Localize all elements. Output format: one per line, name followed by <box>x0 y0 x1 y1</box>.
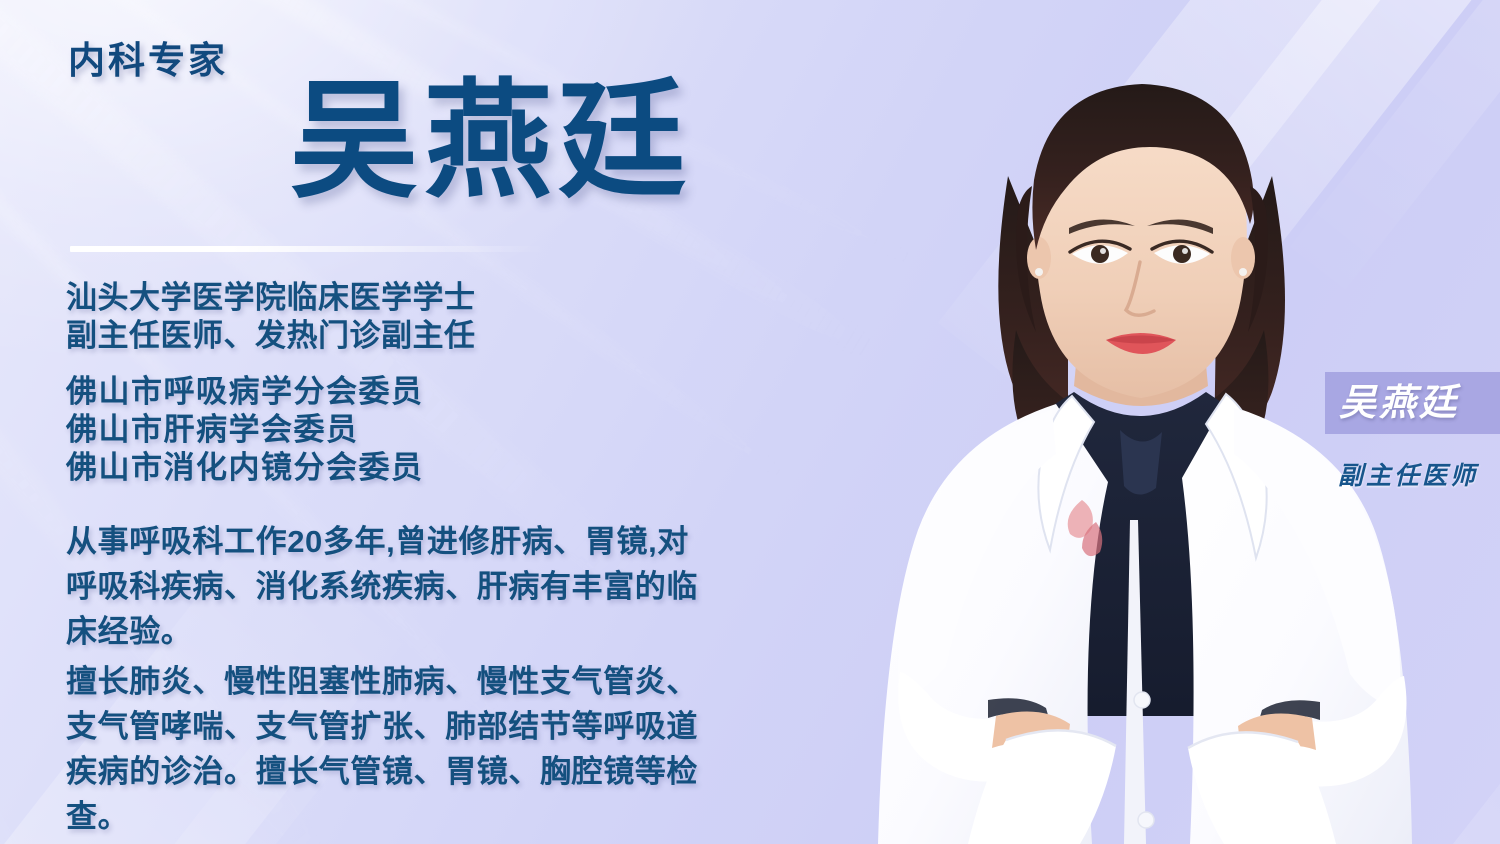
membership-line: 佛山市呼吸病学分会委员 <box>66 373 424 411</box>
membership-line: 佛山市肝病学会委员 <box>66 411 424 449</box>
specialty-line: 查。 <box>66 794 856 839</box>
specialty-block: 擅长肺炎、慢性阻塞性肺病、慢性支气管炎、 支气管哮喘、支气管扩张、肺部结节等呼吸… <box>66 659 856 839</box>
badge-doctor-name: 吴燕廷 <box>1339 384 1459 421</box>
credentials-block: 汕头大学医学院临床医学学士 副主任医师、发热门诊副主任 <box>66 279 476 355</box>
diagonal-band-decoration <box>1286 617 1500 844</box>
specialty-line: 擅长肺炎、慢性阻塞性肺病、慢性支气管炎、 <box>66 659 856 704</box>
membership-line: 佛山市消化内镜分会委员 <box>66 449 424 487</box>
portrait-name-badge: 吴燕廷 副主任医师 <box>1325 372 1500 492</box>
page-eyebrow-specialty: 内科专家 <box>68 30 228 84</box>
diagonal-band-decoration <box>1277 0 1500 306</box>
doctor-name-heading: 吴燕廷 <box>290 78 692 206</box>
doctor-profile-card: 内科专家 吴燕廷 汕头大学医学院临床医学学士 副主任医师、发热门诊副主任 佛山市… <box>0 0 1500 844</box>
experience-block: 从事呼吸科工作20多年,曾进修肝病、胃镜,对 呼吸科疾病、消化系统疾病、肝病有丰… <box>66 519 856 654</box>
specialty-line: 支气管哮喘、支气管扩张、肺部结节等呼吸道 <box>66 704 856 749</box>
experience-line: 从事呼吸科工作20多年,曾进修肝病、胃镜,对 <box>66 519 856 564</box>
experience-line: 呼吸科疾病、消化系统疾病、肝病有丰富的临 <box>66 564 856 609</box>
specialty-line: 疾病的诊治。擅长气管镜、胃镜、胸腔镜等检 <box>66 749 856 794</box>
diagonal-band-decoration <box>1080 0 1500 382</box>
memberships-block: 佛山市呼吸病学分会委员 佛山市肝病学会委员 佛山市消化内镜分会委员 <box>66 373 424 487</box>
badge-name-bar: 吴燕廷 <box>1325 372 1500 434</box>
divider-line <box>70 246 545 252</box>
credentials-line: 汕头大学医学院临床医学学士 <box>66 279 476 317</box>
credentials-line: 副主任医师、发热门诊副主任 <box>66 317 476 355</box>
experience-line: 床经验。 <box>66 609 856 654</box>
diagonal-band-decoration <box>938 0 1500 415</box>
badge-doctor-title: 副主任医师 <box>1325 456 1500 492</box>
